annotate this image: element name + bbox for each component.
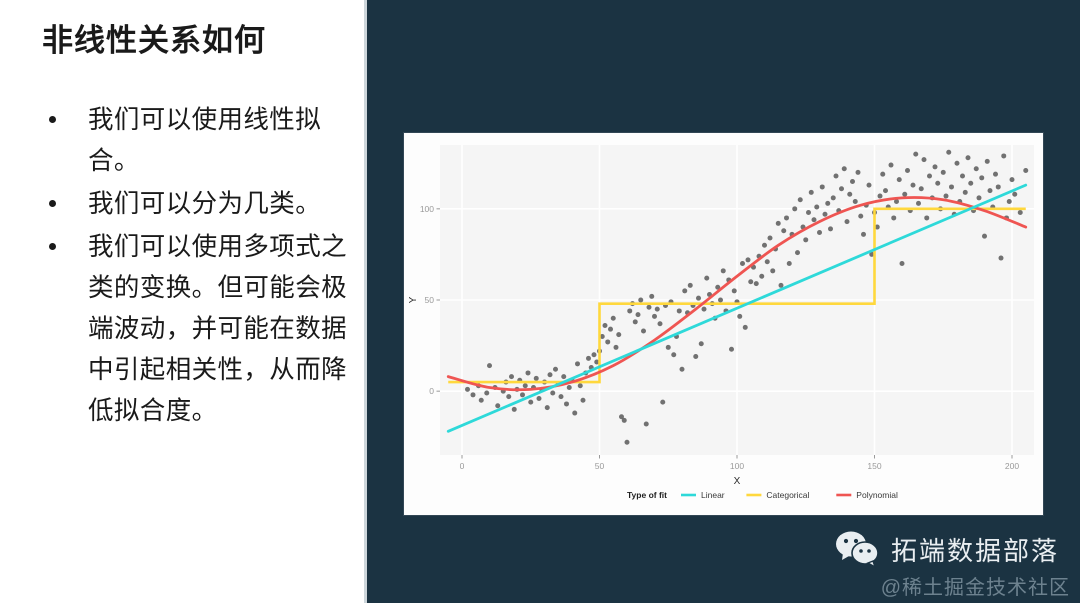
data-point [528,400,533,405]
data-point [729,347,734,352]
data-point [960,174,965,179]
data-point [658,321,663,326]
data-point [911,183,916,188]
data-point [1012,192,1017,197]
data-point [944,194,949,199]
data-point [946,150,951,155]
data-point [963,190,968,195]
data-point [748,279,753,284]
data-point [718,298,723,303]
data-point [856,170,861,175]
data-point [616,332,621,337]
data-point [814,205,819,210]
data-point [523,383,528,388]
data-point [996,184,1001,189]
data-point [484,391,489,396]
data-point [680,367,685,372]
data-point [847,192,852,197]
data-point [999,256,1004,261]
data-point [891,215,896,220]
data-point [762,243,767,248]
data-point [537,396,542,401]
data-point [636,312,641,317]
list-item: 我们可以使用多项式之类的变换。但可能会极端波动，并可能在数据中引起相关性，从而降… [34,227,364,432]
data-point [889,163,894,168]
data-point [828,226,833,231]
data-point [955,161,960,166]
data-point [1007,199,1012,204]
data-point [572,411,577,416]
data-point [784,215,789,220]
data-point [652,314,657,319]
data-point [682,288,687,293]
y-axis-tick-label: 100 [420,204,434,214]
data-point [622,418,627,423]
data-point [575,361,580,366]
data-point [625,440,630,445]
data-point [941,170,946,175]
data-point [561,374,566,379]
slide-root: 非线性关系如何 我们可以使用线性拟合。 我们可以分为几类。 我们可以使用多项式之… [0,0,1080,603]
legend-title: Type of fit [627,490,667,500]
data-point [509,374,514,379]
data-point [754,281,759,286]
data-point [614,345,619,350]
data-point [553,367,558,372]
list-item-text: 我们可以使用线性拟合。 [88,106,321,175]
data-point [647,305,652,310]
data-point [839,186,844,191]
data-point [520,392,525,397]
data-point [586,356,591,361]
data-point [842,166,847,171]
data-point [765,259,770,264]
x-axis-tick-label: 150 [867,461,881,471]
data-point [1001,153,1006,158]
data-point [699,341,704,346]
data-point [787,261,792,266]
data-point [649,294,654,299]
data-point [812,217,817,222]
data-point [759,274,764,279]
data-point [806,210,811,215]
data-point [880,172,885,177]
data-point [740,261,745,266]
data-point [935,181,940,186]
data-point [770,268,775,273]
legend-label-0: Linear [701,490,725,500]
data-point [487,363,492,368]
scatter-chart: 050100050100150200XYType of fitLinearCat… [404,133,1043,515]
data-point [512,407,517,412]
data-point [913,152,918,157]
data-point [688,283,693,288]
data-point [633,319,638,324]
data-point [902,192,907,197]
watermark-name: 拓端数据部落 [891,531,1059,568]
data-point [666,345,671,350]
data-point [922,157,927,162]
data-point [471,392,476,397]
y-axis-tick-label: 50 [425,295,435,305]
data-point [605,339,610,344]
data-point [627,308,632,313]
data-point [949,184,954,189]
data-point [743,325,748,330]
data-point [795,250,800,255]
data-point [545,405,550,410]
data-point [905,168,910,173]
data-point [564,401,569,406]
data-point [817,230,822,235]
data-point [611,316,616,321]
data-point [933,164,938,169]
list-item-text: 我们可以使用多项式之类的变换。但可能会极端波动，并可能在数据中引起相关性，从而降… [88,233,347,425]
chart-card: 050100050100150200XYType of fitLinearCat… [404,133,1043,515]
data-point [834,174,839,179]
data-point [608,327,613,332]
data-point [1018,210,1023,215]
data-point [993,172,998,177]
data-point [982,234,987,239]
data-point [548,372,553,377]
data-point [1023,168,1028,173]
page-title: 非线性关系如何 [42,22,266,59]
data-point [779,283,784,288]
data-point [781,228,786,233]
y-axis-tick-label: 0 [429,386,434,396]
y-axis-title: Y [408,296,419,303]
data-point [820,184,825,189]
data-point [704,276,709,281]
data-point [776,221,781,226]
data-point [823,212,828,217]
data-point [506,394,511,399]
data-point [809,190,814,195]
data-point [845,219,850,224]
data-point [897,177,902,182]
bullet-dot-icon [49,243,56,250]
data-point [567,385,572,390]
data-point [858,214,863,219]
data-point [746,257,751,262]
data-point [671,352,676,357]
data-point [655,307,660,312]
data-point [534,376,539,381]
bullet-dot-icon [49,116,56,123]
legend-label-1: Categorical [766,490,809,500]
text-panel: 非线性关系如何 我们可以使用线性拟合。 我们可以分为几类。 我们可以使用多项式之… [0,0,364,603]
data-point [644,422,649,427]
data-point [592,352,597,357]
wechat-icon [835,529,881,569]
data-point [792,206,797,211]
data-point [721,268,726,273]
data-point [603,323,608,328]
data-point [732,288,737,293]
data-point [878,194,883,199]
data-point [1010,177,1015,182]
data-point [696,296,701,301]
x-axis-tick-label: 0 [460,461,465,471]
data-point [919,186,924,191]
data-point [867,183,872,188]
data-point [825,201,830,206]
data-point [966,155,971,160]
data-point [924,215,929,220]
watermark-handle: @稀土掘金技术社区 [835,571,1070,600]
bullet-dot-icon [49,200,56,207]
data-point [803,237,808,242]
data-point [559,394,564,399]
data-point [581,398,586,403]
data-point [550,391,555,396]
data-point [985,159,990,164]
data-point [974,166,979,171]
data-point [578,383,583,388]
data-point [988,188,993,193]
x-axis-tick-label: 50 [595,461,605,471]
data-point [702,307,707,312]
x-axis-tick-label: 100 [730,461,744,471]
data-point [900,261,905,266]
list-item: 我们可以使用线性拟合。 [34,100,364,182]
data-point [495,403,500,408]
data-point [660,400,665,405]
data-point [479,398,484,403]
list-item: 我们可以分为几类。 [34,184,364,225]
x-axis-title: X [734,476,741,487]
data-point [465,387,470,392]
data-point [831,195,836,200]
data-point [861,232,866,237]
data-point [638,298,643,303]
data-point [968,181,973,186]
watermark: 拓端数据部落 @稀土掘金技术社区 [835,529,1070,595]
data-point [677,308,682,313]
data-point [526,370,531,375]
data-point [883,188,888,193]
data-point [927,174,932,179]
data-point [768,236,773,241]
x-axis-tick-label: 200 [1005,461,1019,471]
data-point [641,329,646,334]
data-point [850,179,855,184]
data-point [979,175,984,180]
data-point [916,201,921,206]
data-point [737,314,742,319]
list-item-text: 我们可以分为几类。 [88,190,321,218]
data-point [853,199,858,204]
data-point [693,354,698,359]
bullet-list: 我们可以使用线性拟合。 我们可以分为几类。 我们可以使用多项式之类的变换。但可能… [34,100,364,434]
data-point [977,195,982,200]
chart-legend: Type of fitLinearCategoricalPolynomial [627,490,898,500]
legend-label-2: Polynomial [856,490,898,500]
data-point [798,197,803,202]
